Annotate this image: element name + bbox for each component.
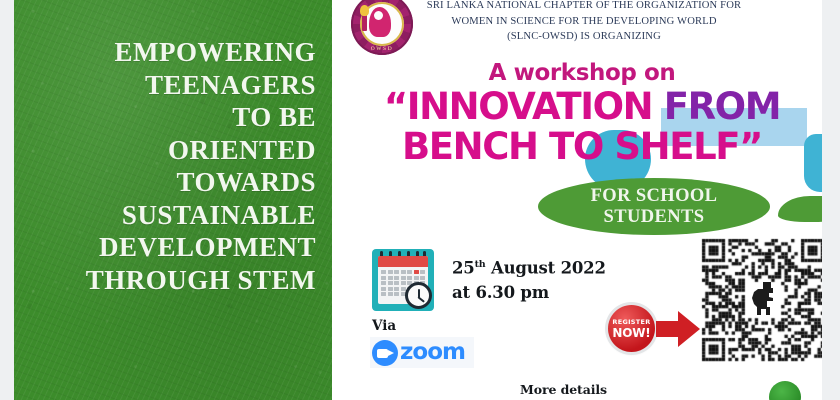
slogan-line-5: TOWARDS [36, 166, 316, 199]
via-label: Via [372, 318, 396, 334]
logo-torch-icon [362, 13, 367, 31]
more-details-label: More details [520, 382, 607, 397]
owsd-logo-icon: OWSD [351, 0, 413, 55]
qr-code[interactable] [701, 238, 822, 362]
calendar-header-bar [378, 256, 428, 267]
whatsapp-icon[interactable] [769, 381, 801, 400]
logo-bottom-label: OWSD [351, 46, 413, 52]
event-date-month-year: August 2022 [485, 259, 605, 278]
zoom-logo: zoom [370, 337, 474, 368]
left-green-panel: EMPOWERING TEENAGERS TO BE ORIENTED TOWA… [14, 0, 332, 400]
calendar-clock-icon [372, 249, 434, 311]
event-date-text: 25th August 2022 at 6.30 pm [452, 253, 606, 305]
slogan-line-7: DEVELOPMENT [36, 231, 316, 264]
dinosaur-icon [749, 282, 777, 316]
organization-header: SRI LANKA NATIONAL CHAPTER OF THE ORGANI… [346, 0, 822, 45]
poster-sheet: EMPOWERING TEENAGERS TO BE ORIENTED TOWA… [14, 0, 822, 400]
poster-canvas: EMPOWERING TEENAGERS TO BE ORIENTED TOWA… [0, 0, 840, 400]
zoom-camera-icon [372, 340, 398, 366]
logo-woman-head-icon [369, 7, 391, 37]
title-line-2-part-1: BENCH TO [402, 125, 614, 168]
event-date-day: 25 [452, 259, 475, 278]
event-date-suffix: th [475, 259, 486, 270]
title-line-2-part-2: SHELF” [614, 125, 762, 168]
audience-badge-line-2: STUDENTS [604, 207, 705, 228]
slogan-line-8: THROUGH STEM [36, 264, 316, 297]
title-line-1-part-1: “INNOVATION [384, 85, 664, 128]
slogan-line-3: TO BE [36, 101, 316, 134]
audience-badge: FOR SCHOOL STUDENTS [538, 178, 770, 235]
workshop-title-block: A workshop on “INNOVATION FROM BENCH TO … [342, 60, 822, 167]
register-now-badge[interactable]: REGISTER NOW! [608, 305, 655, 352]
decor-green-swoosh [778, 196, 822, 222]
zoom-wordmark: zoom [400, 341, 465, 364]
audience-badge-line-1: FOR SCHOOL [591, 186, 718, 207]
org-header-line-1: SRI LANKA NATIONAL CHAPTER OF THE ORGANI… [346, 0, 822, 14]
title-kicker: A workshop on [342, 60, 822, 86]
title-line-1: “INNOVATION FROM [342, 87, 822, 127]
org-header-line-2: WOMEN IN SCIENCE FOR THE DEVELOPING WORL… [346, 14, 822, 30]
event-date-line: 25th August 2022 [452, 253, 606, 281]
title-main: “INNOVATION FROM BENCH TO SHELF” [342, 87, 822, 167]
clock-icon [405, 282, 432, 309]
event-time-line: at 6.30 pm [452, 281, 606, 305]
org-header-line-3: (SLNC-OWSD) IS ORGANIZING [346, 29, 822, 45]
slogan-text: EMPOWERING TEENAGERS TO BE ORIENTED TOWA… [36, 36, 316, 296]
title-line-2: BENCH TO SHELF” [342, 127, 822, 167]
slogan-line-2: TEENAGERS [36, 69, 316, 102]
right-arrow-icon [654, 308, 702, 350]
right-content-column: SRI LANKA NATIONAL CHAPTER OF THE ORGANI… [332, 0, 822, 400]
slogan-line-1: EMPOWERING [36, 36, 316, 69]
title-line-1-part-2: FROM [664, 85, 780, 128]
register-badge-line-2: NOW! [612, 327, 650, 340]
slogan-line-4: ORIENTED [36, 134, 316, 167]
slogan-line-6: SUSTAINABLE [36, 199, 316, 232]
